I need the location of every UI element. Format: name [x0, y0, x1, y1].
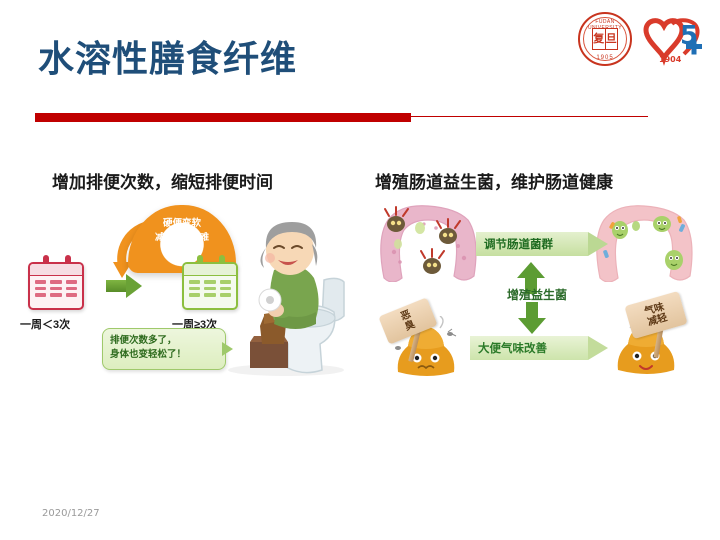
- speech-bubble-text: 排便次数多了， 身体也变轻松了！: [103, 329, 225, 369]
- speech-bubble: 排便次数多了， 身体也变轻松了！: [102, 328, 226, 370]
- footer-date: 2020/12/27: [42, 508, 100, 519]
- arrow-down-icon: [518, 302, 546, 334]
- speech-bubble-line-2: 身体也变轻松了！: [110, 348, 218, 362]
- odor-sign-good-text: 气味 减轻: [643, 301, 669, 329]
- arrow-right-icon-regulate: 调节肠道菌群: [476, 232, 608, 256]
- arrow-top-label: 调节肠道菌群: [484, 236, 553, 252]
- seal-char-1: 复: [593, 29, 606, 49]
- arrow-right-icon-odor: 大便气味改善: [470, 336, 608, 360]
- seal-year: 1905: [580, 55, 630, 61]
- arrow-head: [588, 232, 608, 256]
- left-column-heading: 增加排便次数，缩短排便时间: [52, 168, 273, 193]
- arrow-head: [126, 274, 142, 298]
- right-column-heading: 增殖肠道益生菌，维护肠道健康: [375, 168, 613, 193]
- arrow-body: 调节肠道菌群: [476, 232, 588, 256]
- elderly-person-on-toilet-icon: [216, 218, 352, 378]
- center-label: 增殖益生菌: [472, 286, 602, 303]
- divider-bar-thin: [411, 116, 648, 117]
- right-illustration-panel: 调节肠道菌群 增殖益生菌 大便气味改善: [372, 198, 708, 398]
- speech-bubble-line-1: 排便次数多了，: [110, 334, 218, 348]
- calendar-before-caption: 一周＜3次: [20, 316, 70, 332]
- fudan-university-seal-icon: FUDAN UNIVERSITY 复 旦 1905: [578, 12, 632, 66]
- page-title: 水溶性膳食纤维: [38, 30, 297, 82]
- arrow-bottom-label: 大便气味改善: [478, 340, 547, 356]
- divider-bar-thick: [35, 113, 411, 122]
- intestine-with-harmful-bacteria-icon: [374, 202, 482, 282]
- arrow-head: [588, 336, 608, 360]
- left-illustration-panel: 硬便变软 减少排便困难 一周＜3次 一周≥3: [20, 200, 350, 400]
- odor-sign-bad-line-2: 臭: [403, 319, 417, 333]
- calendar-header: [30, 264, 82, 276]
- slide-canvas: 水溶性膳食纤维 FUDAN UNIVERSITY 复 旦 1905 5 1904…: [0, 0, 720, 540]
- logo-group: FUDAN UNIVERSITY 复 旦 1905 5 1904: [578, 12, 708, 70]
- arrow-shaft: [106, 280, 126, 292]
- arrow-body: 大便气味改善: [470, 336, 588, 360]
- seal-char-2: 旦: [606, 29, 618, 49]
- heart-hospital-logo-icon: 5 1904: [642, 14, 706, 66]
- calendar-grid: [35, 280, 77, 297]
- seal-characters: 复 旦: [592, 28, 618, 50]
- calendar-icon-before: [28, 262, 84, 310]
- hospital-logo-year: 1904: [659, 55, 682, 64]
- title-divider: [0, 112, 720, 124]
- odor-sign-bad-text: 恶 臭: [399, 308, 417, 333]
